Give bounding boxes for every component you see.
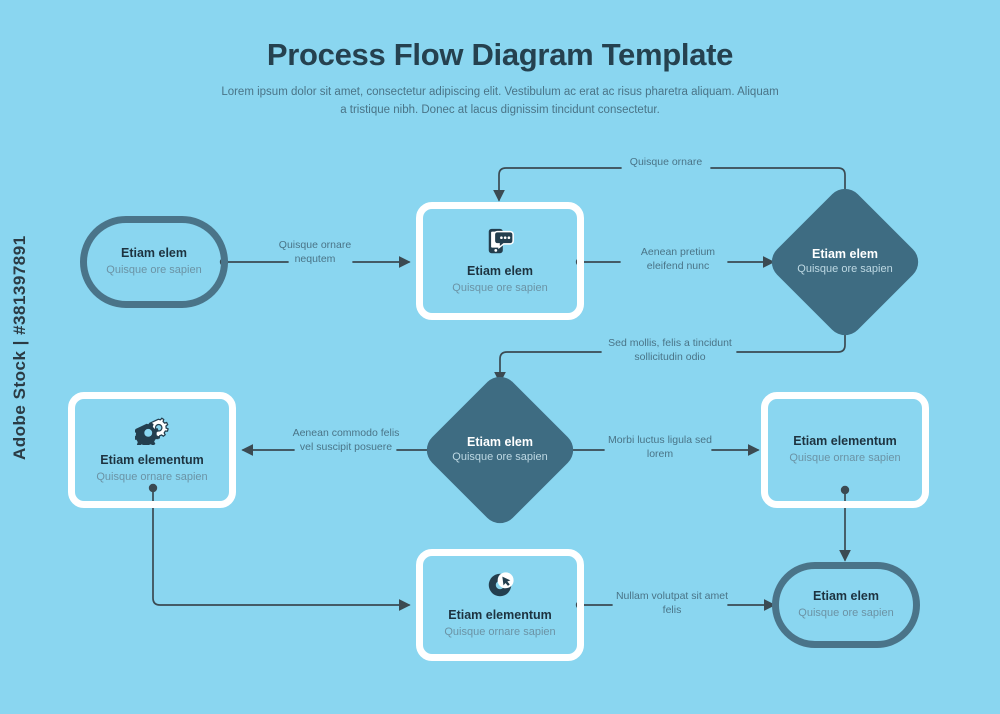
end-node[interactable]: Etiam elem Quisque ore sapien <box>772 562 920 648</box>
process-gears-node[interactable]: Etiam elementum Quisque ornare sapien <box>68 392 236 508</box>
decision-top-right-title: Etiam elem <box>812 247 878 261</box>
start-node-title: Etiam elem <box>121 246 187 262</box>
wire-feedback-top-b <box>499 168 621 200</box>
label-middle-to-gears: Aenean commodo felis vel suscipit posuer… <box>292 426 400 454</box>
diagram-canvas: Process Flow Diagram Template Lorem ipsu… <box>0 0 1000 714</box>
label-feedback-top: Quisque ornare <box>624 155 708 169</box>
mobile-chat-icon <box>485 226 515 256</box>
start-node[interactable]: Etiam elem Quisque ore sapien <box>80 216 228 308</box>
decision-middle-title: Etiam elem <box>467 435 533 449</box>
header: Process Flow Diagram Template Lorem ipsu… <box>0 38 1000 120</box>
donut-chart-cursor-icon <box>485 570 515 600</box>
process-chart-title: Etiam elementum <box>448 608 552 624</box>
wire-decision-to-middle-b <box>500 352 601 382</box>
label-chat-to-decision: Aenean pretium eleifend nunc <box>626 245 730 273</box>
decision-top-right-subtitle: Quisque ore sapien <box>797 263 892 277</box>
label-chart-to-end: Nullam volutpat sit amet felis <box>614 589 730 617</box>
process-right-middle-title: Etiam elementum <box>793 434 897 450</box>
label-decision-to-middle: Sed mollis, felis a tincidunt sollicitud… <box>600 336 740 364</box>
process-chart-node[interactable]: Etiam elementum Quisque ornare sapien <box>416 549 584 661</box>
process-chart-subtitle: Quisque ornare sapien <box>444 626 555 640</box>
process-right-middle-node[interactable]: Etiam elementum Quisque ornare sapien <box>761 392 929 508</box>
page-title: Process Flow Diagram Template <box>0 38 1000 72</box>
process-gears-subtitle: Quisque ornare sapien <box>96 471 207 485</box>
decision-top-right-node[interactable]: Etiam elem Quisque ore sapien <box>788 205 902 319</box>
label-start-to-chat: Quisque ornare nequtem <box>276 238 354 266</box>
stock-watermark: Adobe Stock | #381397891 <box>10 235 30 460</box>
end-node-title: Etiam elem <box>813 589 879 605</box>
process-gears-title: Etiam elementum <box>100 453 204 469</box>
start-node-subtitle: Quisque ore sapien <box>106 264 201 278</box>
process-chat-subtitle: Quisque ore sapien <box>452 282 547 296</box>
gears-icon <box>135 415 169 445</box>
page-subtitle: Lorem ipsum dolor sit amet, consectetur … <box>220 84 780 120</box>
decision-middle-subtitle: Quisque ore sapien <box>452 451 547 465</box>
decision-middle-node[interactable]: Etiam elem Quisque ore sapien <box>443 393 557 507</box>
process-chat-title: Etiam elem <box>467 264 533 280</box>
label-middle-to-right: Morbi luctus ligula sed lorem <box>604 433 716 461</box>
end-node-subtitle: Quisque ore sapien <box>798 607 893 621</box>
process-right-middle-subtitle: Quisque ornare sapien <box>789 452 900 466</box>
process-chat-node[interactable]: Etiam elem Quisque ore sapien <box>416 202 584 320</box>
